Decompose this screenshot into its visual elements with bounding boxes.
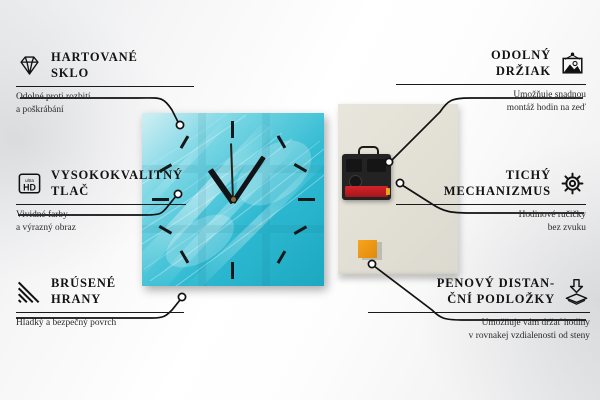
feature-foam-spacers: PENOVÝ DISTAN- ČNÍ PODLOŽKY Umožňuje vám… <box>368 276 590 343</box>
feature-description: Hladký a bezpečný povrch <box>16 317 184 330</box>
feature-durable-holder: ODOLNÝ DRŽIAK Umožňuje snadnou montáž ho… <box>396 48 586 115</box>
title-line-1: TICHÝ <box>444 168 551 184</box>
clock-movement <box>342 152 391 200</box>
feature-header: ODOLNÝ DRŽIAK <box>396 48 586 80</box>
desc-line-2: bez zvuku <box>548 223 586 233</box>
feature-title: VYSOKOKVALITNÝ TLAČ <box>51 168 183 200</box>
divider <box>368 312 590 313</box>
divider <box>16 312 184 313</box>
feature-header: PENOVÝ DISTAN- ČNÍ PODLOŽKY <box>368 276 590 308</box>
desc-line-1: Umožňuje vám držať hodiny <box>482 318 590 328</box>
foam-spacer-pad <box>358 240 379 259</box>
feature-silent-mechanism: TICHÝ MECHANIZMUS Hodinové ručičky bez z… <box>396 168 586 235</box>
feature-title: BRÚSENÉ HRANY <box>51 276 116 308</box>
title-line-1: BRÚSENÉ <box>51 276 116 292</box>
title-line-2: DRŽIAK <box>491 64 551 80</box>
picture-frame-hanger-icon <box>559 50 586 77</box>
foam-pad-top <box>358 240 377 258</box>
desc-line-1: Odolné proti rozbití <box>16 92 90 102</box>
title-line-2: SKLO <box>51 66 138 82</box>
feature-high-quality-print: ultra HD VYSOKOKVALITNÝ TLAČ Vividné far… <box>16 168 186 235</box>
battery <box>345 186 388 197</box>
feature-description: Vividné farby a výrazný obraz <box>16 209 186 235</box>
feature-title: HARTOVANÉ SKLO <box>51 50 138 82</box>
ultra-hd-icon: ultra HD <box>16 170 43 197</box>
desc-line-1: Hladký a bezpečný povrch <box>16 318 116 328</box>
desc-line-2: a výrazný obraz <box>16 223 76 233</box>
feature-tempered-glass: HARTOVANÉ SKLO Odolné proti rozbití a po… <box>16 50 194 117</box>
feature-header: BRÚSENÉ HRANY <box>16 276 184 308</box>
svg-text:HD: HD <box>23 183 36 193</box>
feature-description: Umožňuje snadnou montáž hodin na zeď <box>396 89 586 115</box>
title-line-1: HARTOVANÉ <box>51 50 138 66</box>
divider <box>396 84 586 85</box>
divider <box>16 204 186 205</box>
diagonal-stripes-icon <box>16 278 43 305</box>
desc-line-2: v rovnakej vzdialenosti od steny <box>469 331 590 341</box>
desc-line-2: montáž hodin na zeď <box>507 103 586 113</box>
movement-body <box>342 154 391 200</box>
desc-line-2: a poškrábání <box>16 105 64 115</box>
feature-title: PENOVÝ DISTAN- ČNÍ PODLOŽKY <box>437 276 555 308</box>
divider <box>16 86 194 87</box>
feature-title: ODOLNÝ DRŽIAK <box>491 48 551 80</box>
diamond-icon <box>16 52 43 79</box>
title-line-2: ČNÍ PODLOŽKY <box>437 292 555 308</box>
gear-icon <box>559 170 586 197</box>
title-line-1: ODOLNÝ <box>491 48 551 64</box>
arrow-onto-layers-icon <box>563 278 590 305</box>
feature-description: Odolné proti rozbití a poškrábání <box>16 91 194 117</box>
title-line-1: PENOVÝ DISTAN- <box>437 276 555 292</box>
feature-description: Umožňuje vám držať hodiny v rovnakej vzd… <box>368 317 590 343</box>
title-line-1: VYSOKOKVALITNÝ <box>51 168 183 184</box>
feature-header: TICHÝ MECHANIZMUS <box>396 168 586 200</box>
title-line-2: MECHANIZMUS <box>444 184 551 200</box>
divider <box>396 204 586 205</box>
feature-header: ultra HD VYSOKOKVALITNÝ TLAČ <box>16 168 186 200</box>
feature-title: TICHÝ MECHANIZMUS <box>444 168 551 200</box>
desc-line-1: Vividné farby <box>16 210 68 220</box>
feature-ground-edges: BRÚSENÉ HRANY Hladký a bezpečný povrch <box>16 276 184 330</box>
infographic-canvas: HARTOVANÉ SKLO Odolné proti rozbití a po… <box>0 0 600 400</box>
clock-center-pin <box>231 197 236 202</box>
desc-line-1: Umožňuje snadnou <box>513 90 586 100</box>
feature-header: HARTOVANÉ SKLO <box>16 50 194 82</box>
desc-line-1: Hodinové ručičky <box>519 210 586 220</box>
title-line-2: TLAČ <box>51 184 183 200</box>
clock-minute-hand <box>231 155 266 203</box>
title-line-2: HRANY <box>51 292 116 308</box>
feature-description: Hodinové ručičky bez zvuku <box>396 209 586 235</box>
